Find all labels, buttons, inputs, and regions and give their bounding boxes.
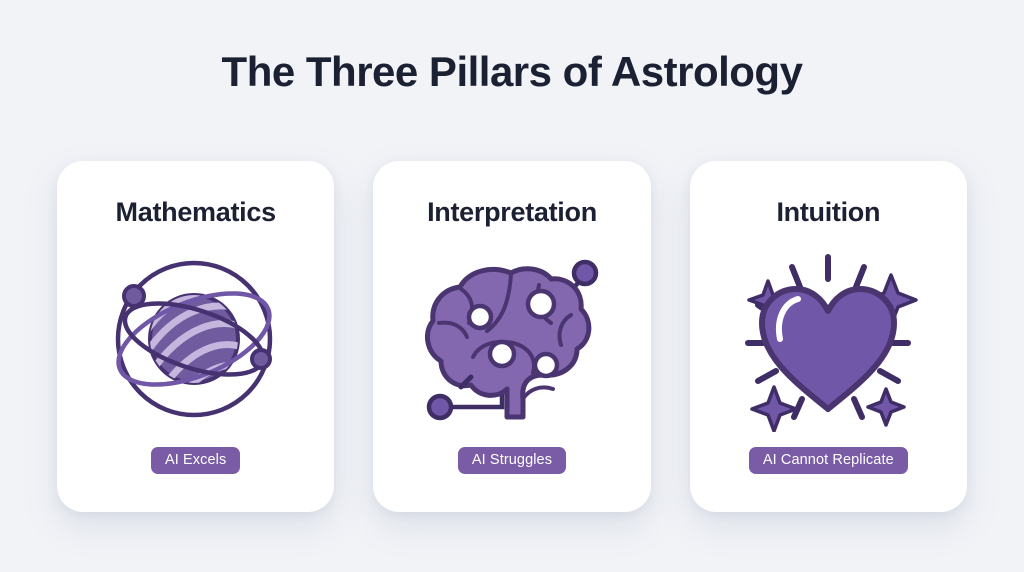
pillar-card-row: Mathematics (57, 161, 967, 512)
ai-capability-badge[interactable]: AI Struggles (458, 447, 566, 475)
brain-network-icon (373, 228, 650, 447)
page-title: The Three Pillars of Astrology (0, 48, 1024, 96)
ai-capability-badge[interactable]: AI Excels (151, 447, 240, 475)
sparkling-heart-icon (690, 228, 967, 447)
card-title: Interpretation (427, 198, 597, 228)
ai-capability-badge[interactable]: AI Cannot Replicate (749, 447, 908, 475)
card-title: Mathematics (116, 198, 276, 228)
pillar-card-mathematics[interactable]: Mathematics (57, 161, 334, 512)
slide-canvas: The Three Pillars of Astrology Mathemati… (0, 0, 1024, 572)
planet-orbit-icon (57, 228, 334, 447)
pillar-card-intuition[interactable]: Intuition (690, 161, 967, 512)
card-title: Intuition (776, 198, 880, 228)
pillar-card-interpretation[interactable]: Interpretation (373, 161, 650, 512)
